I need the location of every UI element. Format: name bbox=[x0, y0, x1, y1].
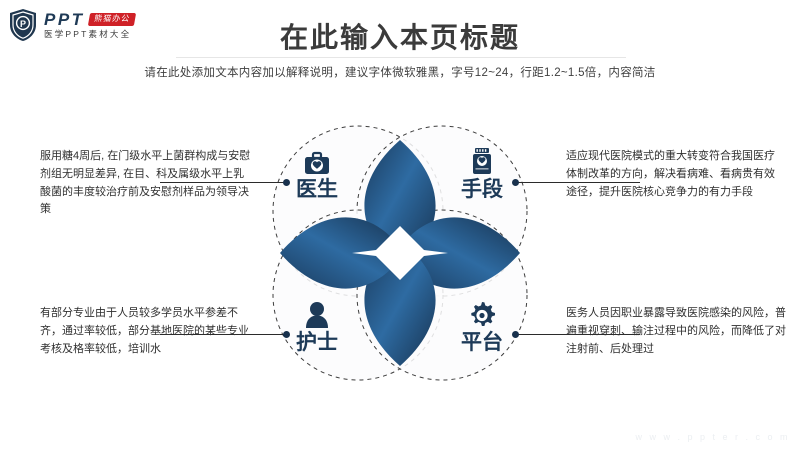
node-label-means: 手段 bbox=[461, 177, 503, 201]
callout-bottom-left: 有部分专业由于人员较多学员水平参差不齐，通过率较低，部分基地医院的某些专业考核及… bbox=[40, 305, 255, 358]
node-label-doctor: 医生 bbox=[296, 177, 338, 201]
connector-dot-bottom-left bbox=[283, 331, 290, 338]
page-subtitle: 请在此处添加文本内容加以解释说明，建议字体微软雅黑，字号12~24，行距1.2~… bbox=[0, 64, 800, 80]
connector-dot-top-left bbox=[283, 179, 290, 186]
title-divider bbox=[176, 57, 626, 58]
medicine-bottle-icon bbox=[473, 148, 491, 174]
callout-bottom-right: 医务人员因职业暴露导致医院感染的风险，普遍重视穿刺、输注过程中的风险，而降低了对… bbox=[566, 305, 788, 358]
site-watermark: w w w . p p t e r . c o m bbox=[635, 432, 790, 442]
page-title: 在此输入本页标题 bbox=[0, 16, 800, 56]
connector-dot-bottom-right bbox=[512, 331, 519, 338]
callout-top-right: 适应现代医院模式的重大转变符合我国医疗体制改革的方向，解决看病难、看病贵有效途径… bbox=[566, 148, 784, 201]
four-petal-diagram: 医生 手段 护士 bbox=[248, 108, 552, 398]
callout-top-left: 服用糖4周后, 在门级水平上菌群构成与安慰剂组无明显差异, 在目、科及属级水平上… bbox=[40, 148, 252, 219]
node-label-nurse: 护士 bbox=[296, 330, 338, 354]
connector-dot-top-right bbox=[512, 179, 519, 186]
node-label-platform: 平台 bbox=[461, 330, 503, 354]
